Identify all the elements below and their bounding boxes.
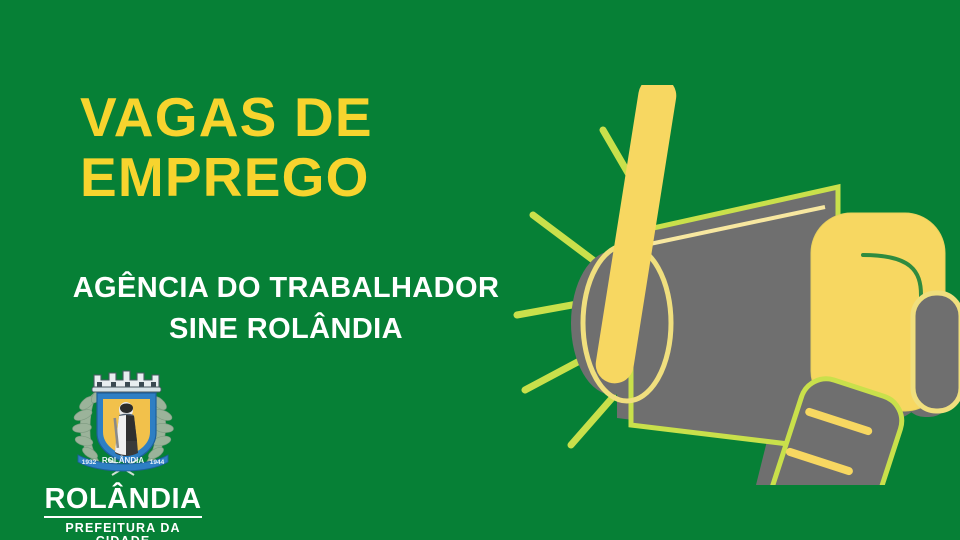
coat-of-arms-icon: ROLÂNDIA 1932 1944 xyxy=(64,363,182,481)
logo-wordmark: ROLÂNDIA PREFEITURA DA CIDADE xyxy=(38,485,208,540)
crest-banner-date-right: 1944 xyxy=(150,459,165,466)
subtitle-agency-name: AGÊNCIA DO TRABALHADOR SINE ROLÂNDIA xyxy=(30,268,542,350)
mural-crown-icon xyxy=(92,371,161,392)
megaphone-side-tab xyxy=(913,293,960,411)
logo-tagline: PREFEITURA DA CIDADE xyxy=(38,522,208,540)
megaphone-icon xyxy=(505,85,960,485)
crest-banner-date-left: 1932 xyxy=(82,459,97,466)
logo-city-name: ROLÂNDIA xyxy=(44,485,201,518)
page-title: VAGAS DE EMPREGO xyxy=(80,88,550,208)
job-vacancy-poster: VAGAS DE EMPREGO AGÊNCIA DO TRABALHADOR … xyxy=(0,0,960,540)
city-hall-logo: ROLÂNDIA 1932 1944 ROLÂNDIA PREFEITURA D… xyxy=(38,363,208,540)
crest-banner-text: ROLÂNDIA xyxy=(102,456,144,465)
